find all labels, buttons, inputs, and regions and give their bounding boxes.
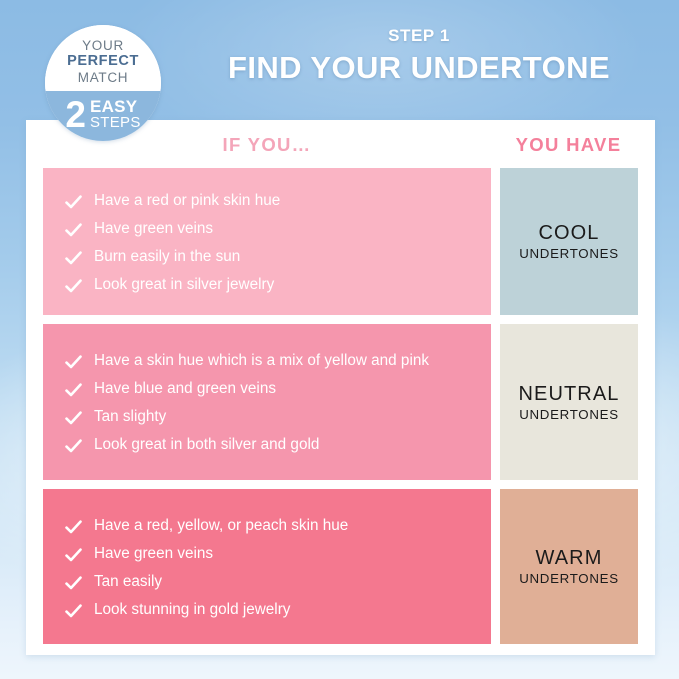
check-icon <box>65 354 82 371</box>
list-item: Tan easily <box>65 571 491 592</box>
list-item: Burn easily in the sun <box>65 246 491 267</box>
swatch-subtitle: UNDERTONES <box>519 570 619 587</box>
page-title: FIND YOUR UNDERTONE <box>176 50 662 86</box>
perfect-match-badge: YOUR PERFECT MATCH 2 EASY STEPS <box>45 25 161 141</box>
swatch-subtitle: UNDERTONES <box>519 245 619 262</box>
table-row: Have a skin hue which is a mix of yellow… <box>43 324 638 480</box>
criteria-text: Have green veins <box>94 543 213 564</box>
criteria-text: Look great in both silver and gold <box>94 434 319 455</box>
criteria-text: Look stunning in gold jewelry <box>94 599 290 620</box>
swatch-title: NEUTRAL <box>518 382 619 406</box>
check-icon <box>65 278 82 295</box>
badge-label-easy: EASY <box>90 98 138 115</box>
check-icon <box>65 410 82 427</box>
table-row: Have a red or pink skin hue Have green v… <box>43 168 638 315</box>
badge-step-count: 2 <box>65 96 86 133</box>
check-icon <box>65 547 82 564</box>
criteria-text: Have blue and green veins <box>94 378 276 399</box>
column-headers: IF YOU… YOU HAVE <box>26 134 655 170</box>
criteria-text: Look great in silver jewelry <box>94 274 274 295</box>
swatch-cool: COOL UNDERTONES <box>500 168 638 315</box>
list-item: Have a red, yellow, or peach skin hue <box>65 515 491 536</box>
criteria-block-neutral: Have a skin hue which is a mix of yellow… <box>43 324 491 480</box>
list-item: Have a skin hue which is a mix of yellow… <box>65 350 491 371</box>
check-icon <box>65 250 82 267</box>
criteria-text: Have a skin hue which is a mix of yellow… <box>94 350 429 371</box>
swatch-warm: WARM UNDERTONES <box>500 489 638 644</box>
undertone-card: IF YOU… YOU HAVE Have a red or pink skin… <box>26 120 655 655</box>
criteria-text: Have a red or pink skin hue <box>94 190 280 211</box>
criteria-block-cool: Have a red or pink skin hue Have green v… <box>43 168 491 315</box>
badge-line-match: MATCH <box>78 70 129 85</box>
criteria-text: Have green veins <box>94 218 213 239</box>
list-item: Have green veins <box>65 218 491 239</box>
swatch-subtitle: UNDERTONES <box>519 406 619 423</box>
criteria-text: Burn easily in the sun <box>94 246 240 267</box>
criteria-text: Have a red, yellow, or peach skin hue <box>94 515 348 536</box>
list-item: Tan slighty <box>65 406 491 427</box>
page-header: STEP 1 FIND YOUR UNDERTONE <box>176 26 662 86</box>
check-icon <box>65 603 82 620</box>
criteria-block-warm: Have a red, yellow, or peach skin hue Ha… <box>43 489 491 644</box>
list-item: Have blue and green veins <box>65 378 491 399</box>
criteria-text: Tan easily <box>94 571 162 592</box>
list-item: Look great in both silver and gold <box>65 434 491 455</box>
column-header-result: YOU HAVE <box>495 134 642 156</box>
list-item: Look stunning in gold jewelry <box>65 599 491 620</box>
swatch-title: WARM <box>536 546 603 570</box>
badge-steps-group: EASY STEPS <box>90 98 141 131</box>
list-item: Have a red or pink skin hue <box>65 190 491 211</box>
badge-upper-half: YOUR PERFECT MATCH <box>45 25 161 91</box>
check-icon <box>65 575 82 592</box>
badge-line-perfect: PERFECT <box>67 53 139 70</box>
undertone-rows: Have a red or pink skin hue Have green v… <box>43 168 638 653</box>
list-item: Have green veins <box>65 543 491 564</box>
swatch-title: COOL <box>538 221 599 245</box>
badge-label-steps: STEPS <box>90 115 141 131</box>
check-icon <box>65 438 82 455</box>
check-icon <box>65 382 82 399</box>
table-row: Have a red, yellow, or peach skin hue Ha… <box>43 489 638 644</box>
step-label: STEP 1 <box>176 26 662 46</box>
badge-line-your: YOUR <box>82 38 124 53</box>
swatch-neutral: NEUTRAL UNDERTONES <box>500 324 638 480</box>
check-icon <box>65 194 82 211</box>
criteria-text: Tan slighty <box>94 406 166 427</box>
check-icon <box>65 519 82 536</box>
list-item: Look great in silver jewelry <box>65 274 491 295</box>
check-icon <box>65 222 82 239</box>
